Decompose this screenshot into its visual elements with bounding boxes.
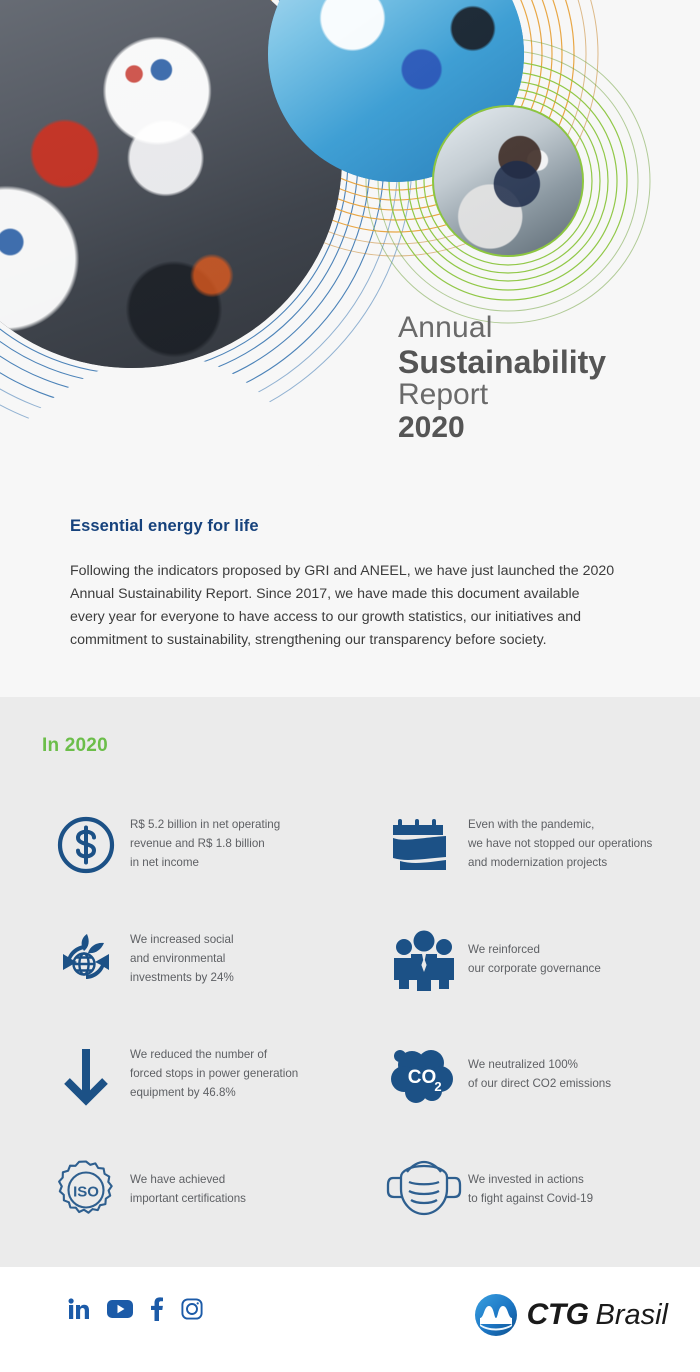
social-links [68, 1297, 203, 1321]
logo-ctg-text: CTG [527, 1298, 589, 1332]
title-line-year: 2020 [398, 413, 606, 444]
highlight-item: ISO We have achieved important certifica… [42, 1132, 362, 1247]
linkedin-icon[interactable] [68, 1298, 90, 1320]
instagram-icon[interactable] [181, 1298, 203, 1320]
face-mask-icon [380, 1159, 468, 1221]
svg-text:CO: CO [408, 1067, 437, 1088]
highlight-text: We have achieved important certification… [130, 1171, 246, 1209]
sustainability-report-page: Annual Sustainability Report 2020 Essent… [0, 0, 700, 1372]
highlight-text: Even with the pandemic, we have not stop… [468, 816, 652, 872]
title-line-report: Report [398, 380, 606, 411]
highlight-item: We reinforced our corporate governance [380, 902, 700, 1017]
intro-paragraph: Following the indicators proposed by GRI… [70, 560, 618, 653]
globe-recycle-leaf-icon [42, 926, 130, 994]
highlights-section: In 2020 R$ 5.2 billion in net operating … [0, 697, 700, 1267]
highlight-item: We invested in actions to fight against … [380, 1132, 700, 1247]
title-line-annual: Annual [398, 313, 606, 344]
title-line-sustainability: Sustainability [398, 346, 606, 379]
ctg-logo-mark [474, 1293, 518, 1337]
dollar-circle-icon [42, 814, 130, 876]
highlight-text: R$ 5.2 billion in net operating revenue … [130, 816, 280, 872]
highlight-text: We invested in actions to fight against … [468, 1171, 593, 1209]
down-arrow-icon [42, 1041, 130, 1109]
highlight-item: We increased social and environmental in… [42, 902, 362, 1017]
iso-badge-icon: ISO [42, 1157, 130, 1223]
highlight-item: CO 2 We neutralized 100% of our direct C… [380, 1017, 700, 1132]
calendar-flip-icon [380, 812, 468, 878]
youtube-icon[interactable] [107, 1299, 133, 1319]
home-office-woman-photo [432, 105, 584, 257]
highlight-text: We neutralized 100% of our direct CO2 em… [468, 1056, 611, 1094]
highlights-heading: In 2020 [42, 735, 660, 757]
highlight-text: We increased social and environmental in… [130, 931, 234, 987]
hero-section: Annual Sustainability Report 2020 [0, 0, 700, 487]
highlight-item: We reduced the number of forced stops in… [42, 1017, 362, 1132]
ctg-brasil-logo: CTG Brasil [474, 1293, 668, 1337]
people-group-icon [380, 927, 468, 993]
highlight-item: Even with the pandemic, we have not stop… [380, 787, 700, 902]
intro-section: Essential energy for life Following the … [0, 487, 700, 697]
highlight-text: We reduced the number of forced stops in… [130, 1046, 298, 1102]
co2-cloud-icon: CO 2 [380, 1041, 468, 1109]
highlight-item: R$ 5.2 billion in net operating revenue … [42, 787, 362, 902]
logo-brasil-text: Brasil [595, 1299, 668, 1332]
report-title-block: Annual Sustainability Report 2020 [398, 313, 606, 443]
logo-wordmark: CTG Brasil [527, 1298, 668, 1332]
svg-text:ISO: ISO [73, 1183, 99, 1200]
highlights-grid: R$ 5.2 billion in net operating revenue … [42, 787, 660, 1247]
svg-text:2: 2 [434, 1079, 441, 1094]
facebook-icon[interactable] [150, 1297, 164, 1321]
highlight-text: We reinforced our corporate governance [468, 941, 601, 979]
intro-heading: Essential energy for life [70, 517, 634, 536]
footer-section: CTG Brasil [0, 1267, 700, 1372]
